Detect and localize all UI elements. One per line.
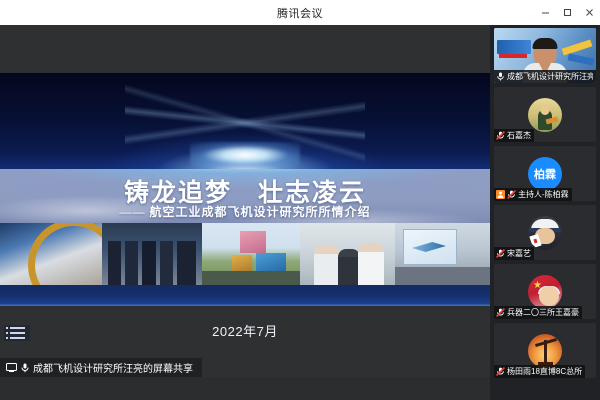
photo-control-room: [0, 223, 102, 285]
screen-share-label: 成都飞机设计研究所汪亮的屏幕共享: [33, 360, 193, 375]
participant-sidebar[interactable]: 成都飞机设计研究所汪亮 石嘉杰 柏霖: [490, 25, 600, 400]
tencent-meeting-window: 腾讯会议 铸龙追梦壮志凌云 —— 航空工业成都飞机设计研究所所情: [0, 0, 600, 400]
participant-namebar: 杨田雨18直博8C总所: [494, 365, 585, 378]
close-button[interactable]: [578, 0, 600, 25]
participant-name: 主持人-陈柏霖: [518, 189, 569, 200]
minimize-button[interactable]: [534, 0, 556, 25]
photo-leaders-visit: [102, 223, 202, 285]
photo-conference-room: [395, 223, 490, 285]
participant-namebar: 宋嘉艺: [494, 247, 534, 260]
window-title: 腾讯会议: [277, 5, 323, 21]
participant-tile[interactable]: ★ 兵器二〇三所王嘉豪: [494, 264, 596, 319]
participant-name: 石嘉杰: [507, 130, 531, 141]
sun-flare-icon: [190, 142, 300, 168]
maximize-button[interactable]: [556, 0, 578, 25]
microphone-muted-icon: [496, 308, 505, 318]
photo-campus-exhibit: [202, 223, 300, 285]
window-controls: [534, 0, 600, 25]
slide-list-icon[interactable]: [4, 325, 30, 341]
participant-tile[interactable]: 宋嘉艺: [494, 205, 596, 260]
participant-tile[interactable]: 石嘉杰: [494, 87, 596, 142]
avatar: [528, 98, 562, 132]
avatar: [528, 216, 562, 250]
microphone-muted-icon: [496, 249, 505, 259]
participant-tile[interactable]: 成都飞机设计研究所汪亮: [494, 28, 596, 83]
participant-name: 兵器二〇三所王嘉豪: [507, 307, 579, 318]
photo-strip: [0, 223, 490, 285]
screen-share-icon: [6, 363, 17, 372]
microphone-muted-icon: [496, 367, 505, 377]
presentation-slide: 铸龙追梦壮志凌云 —— 航空工业成都飞机设计研究所所情介绍: [0, 73, 490, 306]
participant-name: 杨田雨18直博8C总所: [507, 366, 582, 377]
participant-namebar: 主持人-陈柏霖: [494, 188, 572, 201]
avatar: ★: [528, 275, 562, 309]
slide-bottom-band: [0, 285, 490, 306]
microphone-muted-icon: [507, 190, 516, 200]
host-badge-icon: [496, 190, 505, 199]
microphone-muted-icon: [496, 131, 505, 141]
avatar-initials: 柏霖: [534, 166, 556, 182]
participant-namebar: 兵器二〇三所王嘉豪: [494, 306, 582, 319]
microphone-icon: [496, 72, 505, 82]
shared-screen-stage[interactable]: 铸龙追梦壮志凌云 —— 航空工业成都飞机设计研究所所情介绍 2022年7月: [0, 25, 490, 377]
microphone-icon: [21, 363, 29, 373]
participant-namebar: 石嘉杰: [494, 129, 534, 142]
slide-subtitle: —— 航空工业成都飞机设计研究所所情介绍: [0, 203, 490, 220]
participant-namebar: 成都飞机设计研究所汪亮: [494, 70, 596, 83]
slide-date: 2022年7月: [0, 321, 490, 340]
participant-name: 成都飞机设计研究所汪亮: [507, 71, 593, 82]
participant-tile[interactable]: 柏霖 主持人-陈柏霖: [494, 146, 596, 201]
participant-tile[interactable]: 杨田雨18直博8C总所: [494, 323, 596, 378]
participant-name: 宋嘉艺: [507, 248, 531, 259]
avatar: 柏霖: [528, 157, 562, 191]
screen-share-status-bar: 成都飞机设计研究所汪亮的屏幕共享: [0, 358, 202, 377]
title-bar: 腾讯会议: [0, 0, 600, 26]
avatar: [528, 334, 562, 368]
photo-engineers-discussion: [300, 223, 395, 285]
